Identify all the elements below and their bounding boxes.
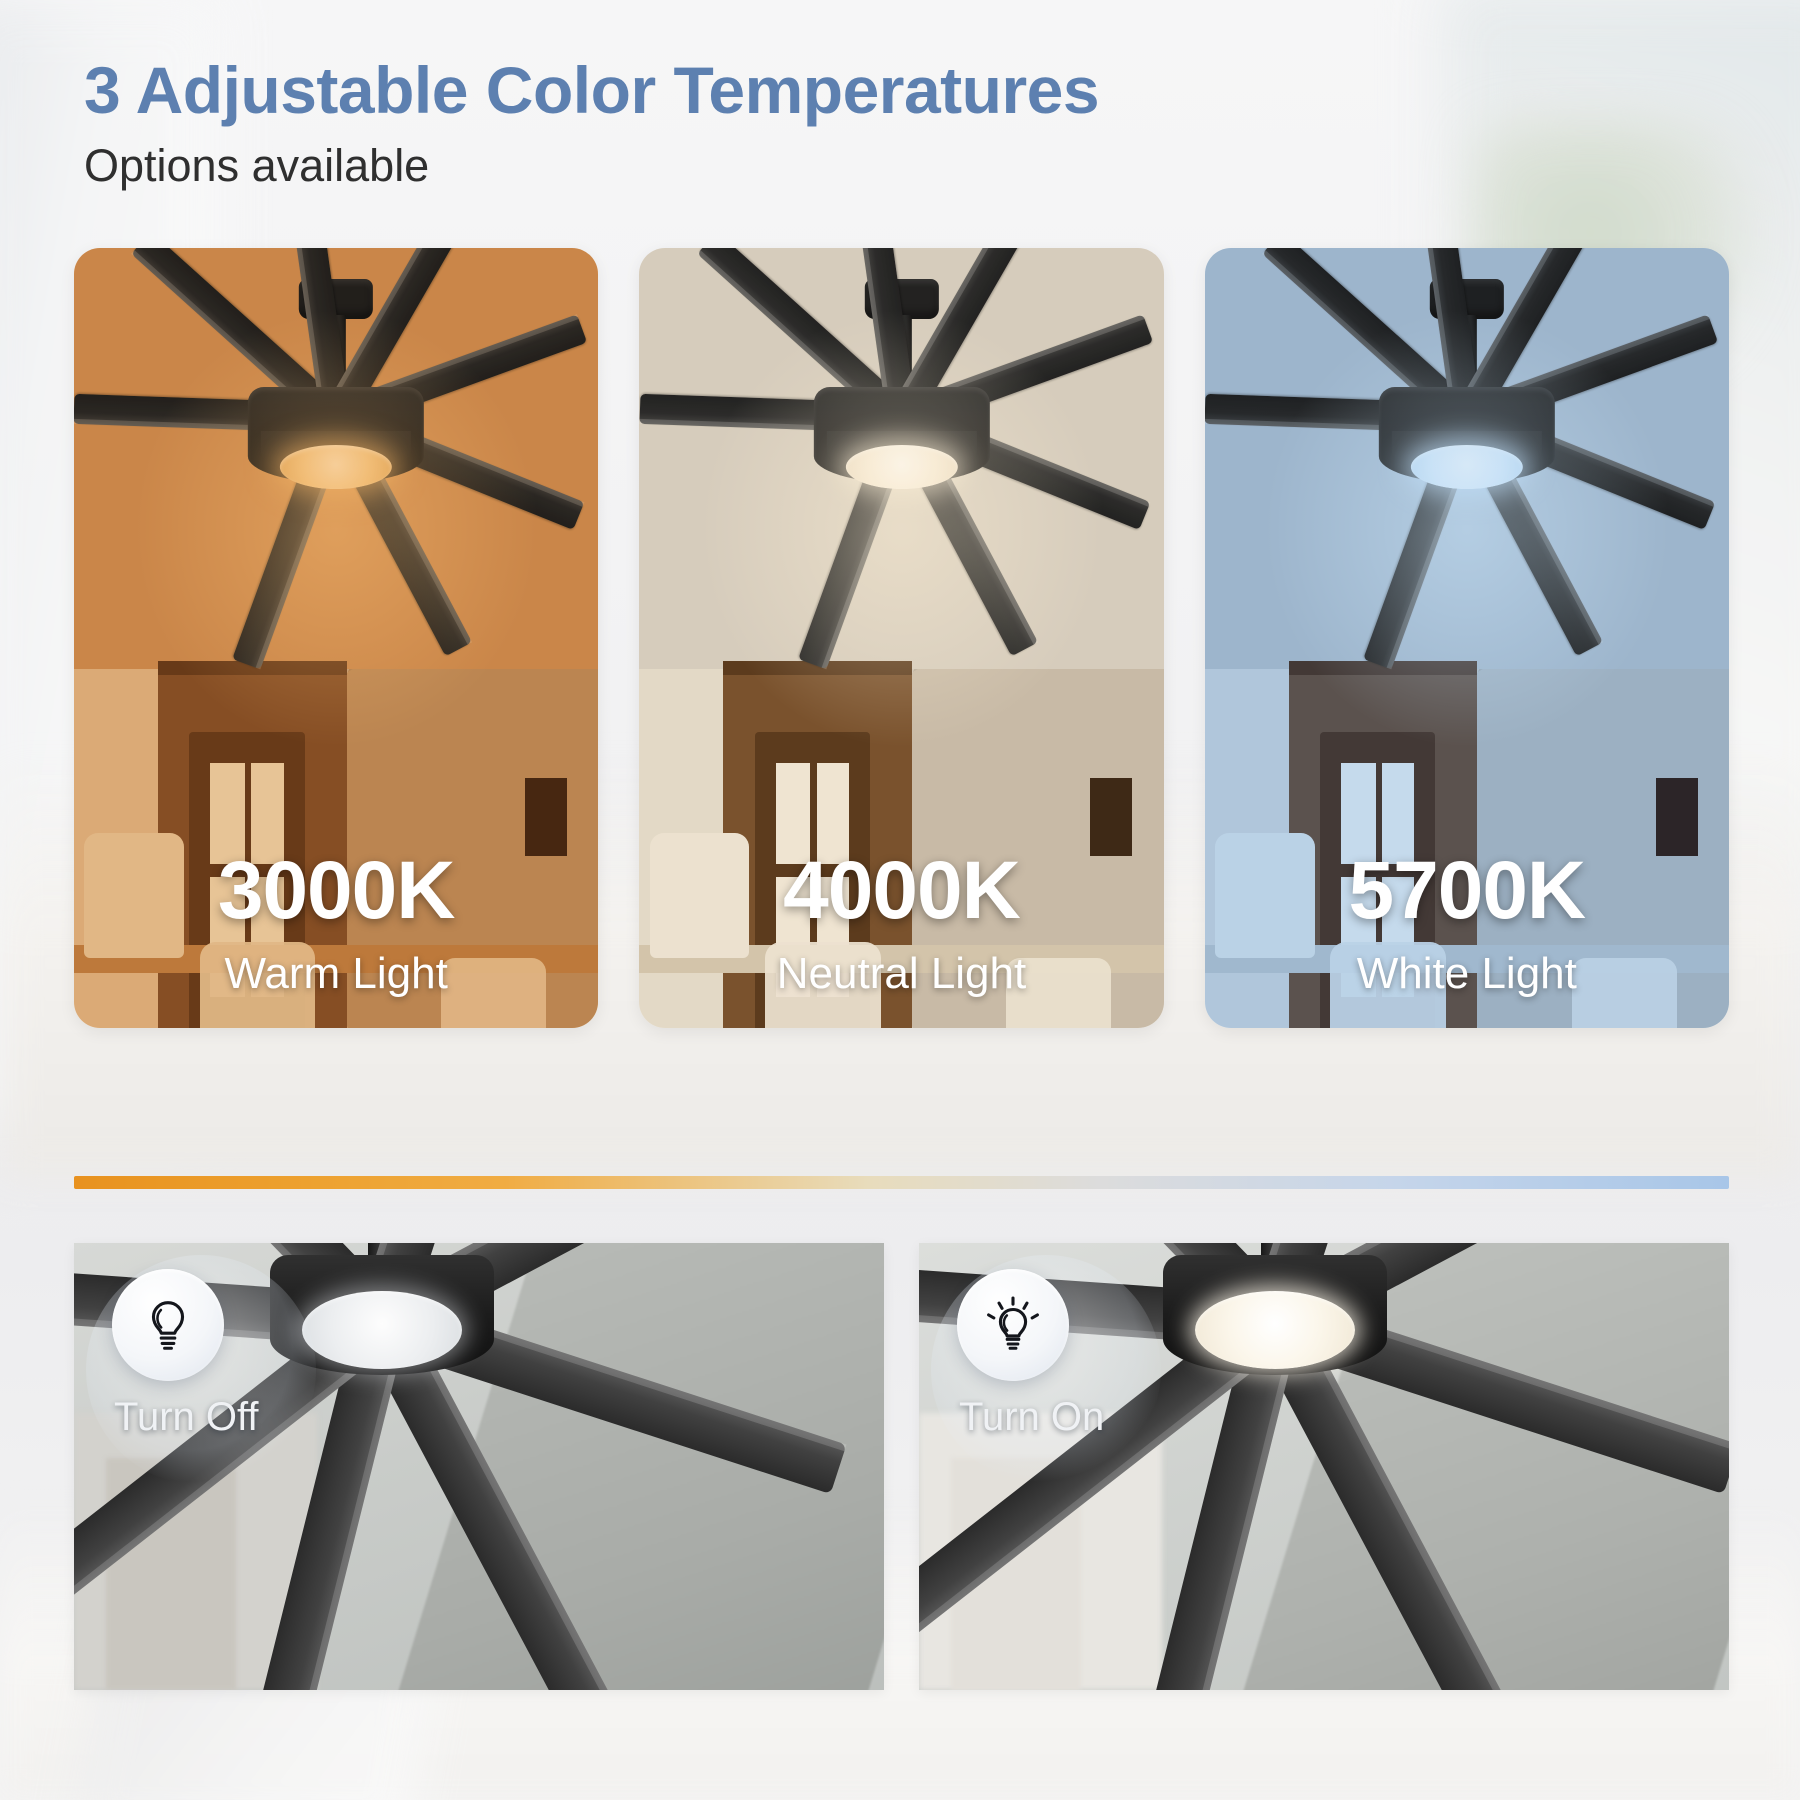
kelvin-value: 4000K: [639, 850, 1163, 932]
light-name: Neutral Light: [639, 952, 1163, 996]
light-state-panel-off[interactable]: Turn Off: [74, 1243, 884, 1690]
color-temperature-card-row: 3000K Warm Light: [74, 248, 1729, 1028]
badge-label: Turn Off: [114, 1397, 259, 1437]
temperature-card-4000k[interactable]: 4000K Neutral Light: [639, 248, 1163, 1028]
light-state-panel-row: Turn Off: [74, 1243, 1729, 1690]
bulb-on-icon[interactable]: [957, 1269, 1069, 1381]
page-title: 3 Adjustable Color Temperatures: [84, 56, 1099, 125]
bulb-off-icon[interactable]: [112, 1269, 224, 1381]
page-subtitle: Options available: [84, 141, 1099, 191]
badge-label: Turn On: [959, 1397, 1104, 1437]
fan-light-disc: [302, 1291, 462, 1369]
temperature-card-5700k[interactable]: 5700K White Light: [1205, 248, 1729, 1028]
kelvin-value: 3000K: [74, 850, 598, 932]
light-state-badge-off[interactable]: Turn Off: [112, 1269, 259, 1437]
light-name: Warm Light: [74, 952, 598, 996]
gradient-divider: [74, 1176, 1729, 1189]
light-state-panel-on[interactable]: Turn On: [919, 1243, 1729, 1690]
fan-light-disc: [1195, 1291, 1355, 1369]
light-name: White Light: [1205, 952, 1729, 996]
temperature-card-3000k[interactable]: 3000K Warm Light: [74, 248, 598, 1028]
infographic-page: 3 Adjustable Color Temperatures Options …: [0, 0, 1800, 1800]
kelvin-value: 5700K: [1205, 850, 1729, 932]
header: 3 Adjustable Color Temperatures Options …: [84, 56, 1099, 191]
light-state-badge-on[interactable]: Turn On: [957, 1269, 1104, 1437]
